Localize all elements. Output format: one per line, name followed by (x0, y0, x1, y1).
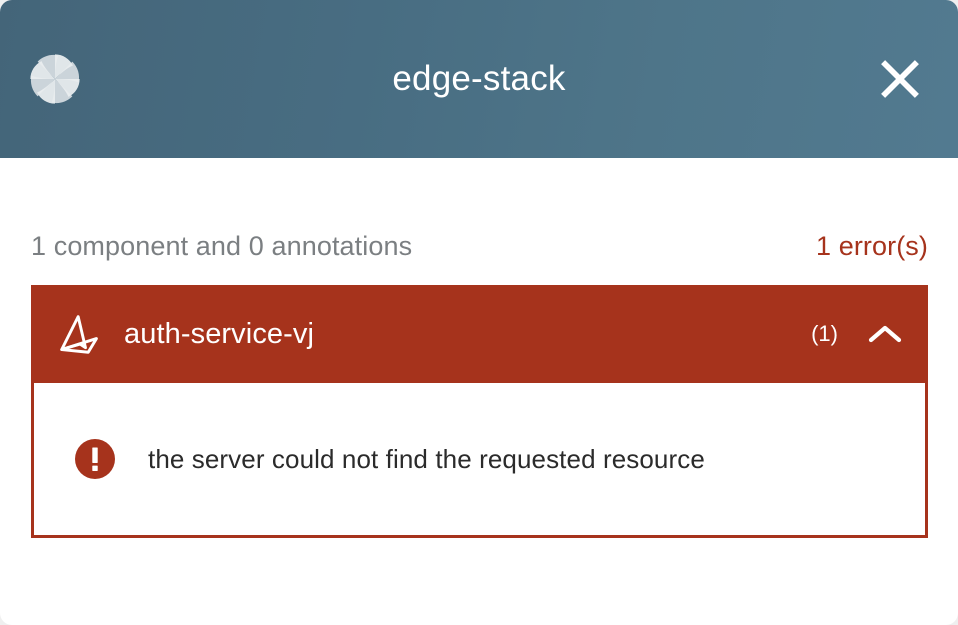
mapping-icon (58, 313, 102, 355)
component-count-label: 1 component and 0 annotations (31, 233, 412, 260)
error-list-item: the server could not find the requested … (75, 439, 705, 479)
dialog-header: edge-stack (0, 0, 958, 158)
component-header-auth-service-vj[interactable]: auth-service-vj (1) (31, 285, 928, 383)
close-icon[interactable] (874, 53, 926, 105)
error-message: the server could not find the requested … (148, 443, 705, 476)
chevron-up-icon[interactable] (868, 323, 902, 345)
component-body: the server could not find the requested … (31, 383, 928, 538)
edge-stack-dialog: edge-stack 1 component and 0 annotations… (0, 0, 958, 625)
error-count-badge: 1 error(s) (816, 233, 928, 260)
component-error-badge: (1) (811, 323, 838, 345)
summary-row: 1 component and 0 annotations 1 error(s) (31, 225, 928, 267)
component-group: auth-service-vj (1) the server could not… (31, 285, 928, 538)
component-name-label: auth-service-vj (124, 320, 811, 349)
error-exclamation-icon (75, 439, 115, 479)
page-title: edge-stack (0, 61, 958, 96)
